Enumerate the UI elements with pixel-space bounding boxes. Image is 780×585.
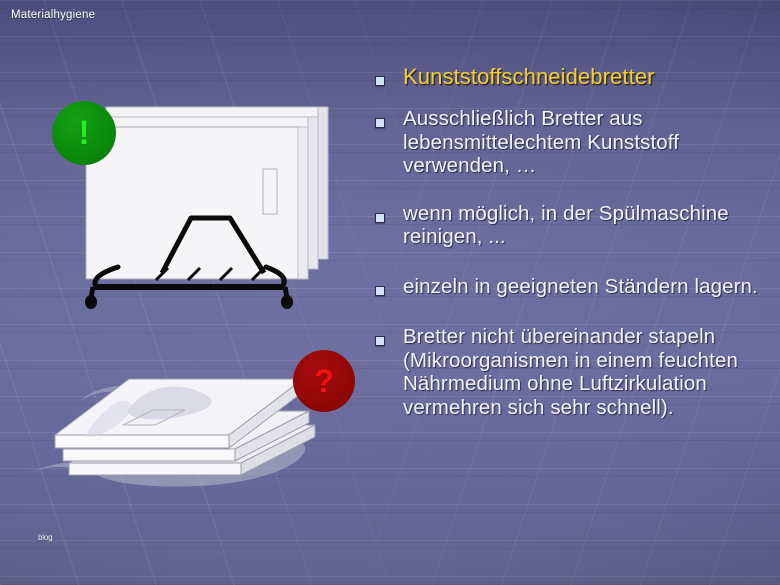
bullet-square-icon — [375, 286, 385, 296]
bullet-square-icon — [375, 213, 385, 223]
question-mark-icon: ? — [314, 365, 334, 397]
list-item-label: wenn möglich, in der Spülmaschine reinig… — [403, 202, 766, 249]
exclamation-mark-icon: ! — [78, 116, 89, 150]
list-item-label: Bretter nicht übereinander stapeln (Mikr… — [403, 325, 766, 419]
page-title: Materialhygiene — [11, 9, 95, 21]
list-item-4: Bretter nicht übereinander stapeln (Mikr… — [368, 325, 766, 419]
list-item-title: Kunststoffschneidebretter — [368, 64, 766, 90]
list-item-label: Kunststoffschneidebretter — [403, 64, 766, 90]
exclamation-badge: ! — [52, 101, 116, 165]
slide: Materialhygiene — [0, 0, 780, 585]
list-item-3: einzeln in geeigneten Ständern lagern. — [368, 275, 766, 299]
bullet-list: Kunststoffschneidebretter Ausschließlich… — [368, 64, 766, 436]
stacked-cutting-boards-illustration — [25, 365, 335, 515]
list-item-2: wenn möglich, in der Spülmaschine reinig… — [368, 202, 766, 249]
bullet-square-icon — [375, 118, 385, 128]
bullet-square-icon — [375, 76, 385, 86]
list-item-label: einzeln in geeigneten Ständern lagern. — [403, 275, 766, 299]
list-item-label: Ausschließlich Bretter aus lebensmittele… — [403, 107, 766, 178]
question-badge: ? — [293, 350, 355, 412]
bullet-square-icon — [375, 336, 385, 346]
footer-label: blog — [38, 533, 52, 542]
list-item-1: Ausschließlich Bretter aus lebensmittele… — [368, 107, 766, 178]
